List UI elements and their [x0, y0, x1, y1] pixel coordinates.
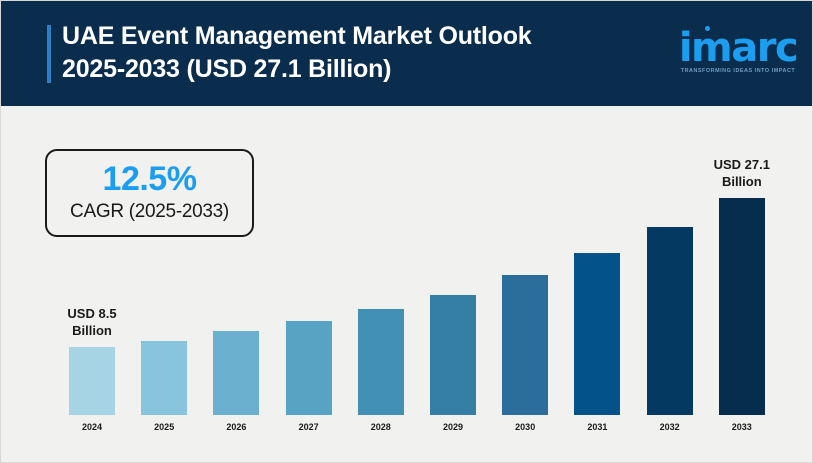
- bar-group-2029[interactable]: 2029: [430, 295, 476, 415]
- value-callout-2024-line-2: Billion: [42, 322, 142, 339]
- value-callout-2033: USD 27.1Billion: [692, 156, 792, 190]
- x-axis-label-2029: 2029: [421, 415, 485, 432]
- bar-2026[interactable]: [213, 331, 259, 415]
- bar-2027[interactable]: [286, 321, 332, 415]
- bar-2024[interactable]: [69, 347, 115, 415]
- infographic-canvas: UAE Event Management Market Outlook 2025…: [0, 0, 813, 463]
- bar-group-2028[interactable]: 2028: [358, 309, 404, 415]
- bar-group-2027[interactable]: 2027: [286, 321, 332, 415]
- bar-group-2032[interactable]: 2032: [647, 227, 693, 415]
- x-axis-label-2027: 2027: [277, 415, 341, 432]
- bar-group-2031[interactable]: 2031: [574, 253, 620, 415]
- bar-group-2026[interactable]: 2026: [213, 331, 259, 415]
- bar-group-2030[interactable]: 2030: [502, 275, 548, 415]
- bar-2029[interactable]: [430, 295, 476, 415]
- value-callout-2024-line-1: USD 8.5: [42, 305, 142, 322]
- bar-group-2024[interactable]: 2024USD 8.5Billion: [69, 347, 115, 415]
- bar-2025[interactable]: [141, 341, 187, 415]
- value-callout-2033-line-2: Billion: [692, 173, 792, 190]
- bar-2031[interactable]: [574, 253, 620, 415]
- x-axis-label-2033: 2033: [710, 415, 774, 432]
- value-callout-2033-line-1: USD 27.1: [692, 156, 792, 173]
- x-axis-label-2024: 2024: [60, 415, 124, 432]
- bar-group-2033[interactable]: 2033USD 27.1Billion: [719, 198, 765, 415]
- bar-2032[interactable]: [647, 227, 693, 415]
- x-axis-label-2032: 2032: [638, 415, 702, 432]
- bar-2030[interactable]: [502, 275, 548, 415]
- bar-2033[interactable]: [719, 198, 765, 415]
- x-axis-label-2031: 2031: [565, 415, 629, 432]
- x-axis-label-2028: 2028: [349, 415, 413, 432]
- bar-chart: 2024USD 8.5Billion2025202620272028202920…: [1, 1, 813, 463]
- value-callout-2024: USD 8.5Billion: [42, 305, 142, 339]
- x-axis-label-2025: 2025: [132, 415, 196, 432]
- x-axis-label-2030: 2030: [493, 415, 557, 432]
- bar-group-2025[interactable]: 2025: [141, 341, 187, 415]
- x-axis-label-2026: 2026: [204, 415, 268, 432]
- bar-2028[interactable]: [358, 309, 404, 415]
